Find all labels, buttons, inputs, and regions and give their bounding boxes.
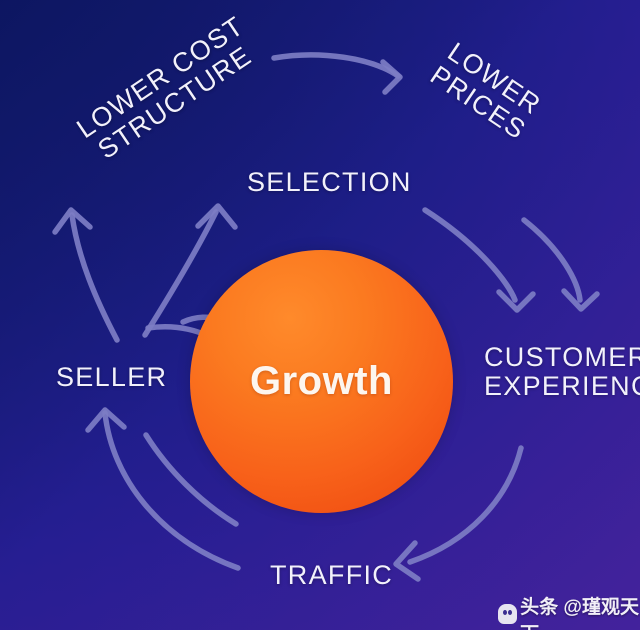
node-label-seller[interactable]: SELLER: [56, 363, 167, 392]
node-label-traffic[interactable]: TRAFFIC: [270, 561, 393, 590]
arrow-seller-to-lower-cost-structure: [55, 210, 117, 340]
growth-circle[interactable]: Growth: [190, 250, 453, 513]
node-label-customer-experience[interactable]: CUSTOMER EXPERIENCE: [484, 343, 640, 401]
growth-label: Growth: [250, 359, 393, 404]
toutiao-logo-icon: [498, 604, 517, 624]
watermark: 头条 @瑾观天下: [498, 592, 640, 630]
arrow-cost-to-prices: [274, 55, 400, 92]
node-label-line-2: EXPERIENCE: [484, 372, 640, 401]
watermark-text: 头条 @瑾观天下: [520, 592, 640, 630]
flywheel-diagram-canvas: Growth LOWER COST STRUCTURE LOWER PRICES…: [0, 0, 640, 630]
node-label-selection[interactable]: SELECTION: [247, 168, 412, 197]
node-label-line-1: CUSTOMER: [484, 343, 640, 372]
arrow-selection-to-customer-experience: [425, 210, 533, 310]
